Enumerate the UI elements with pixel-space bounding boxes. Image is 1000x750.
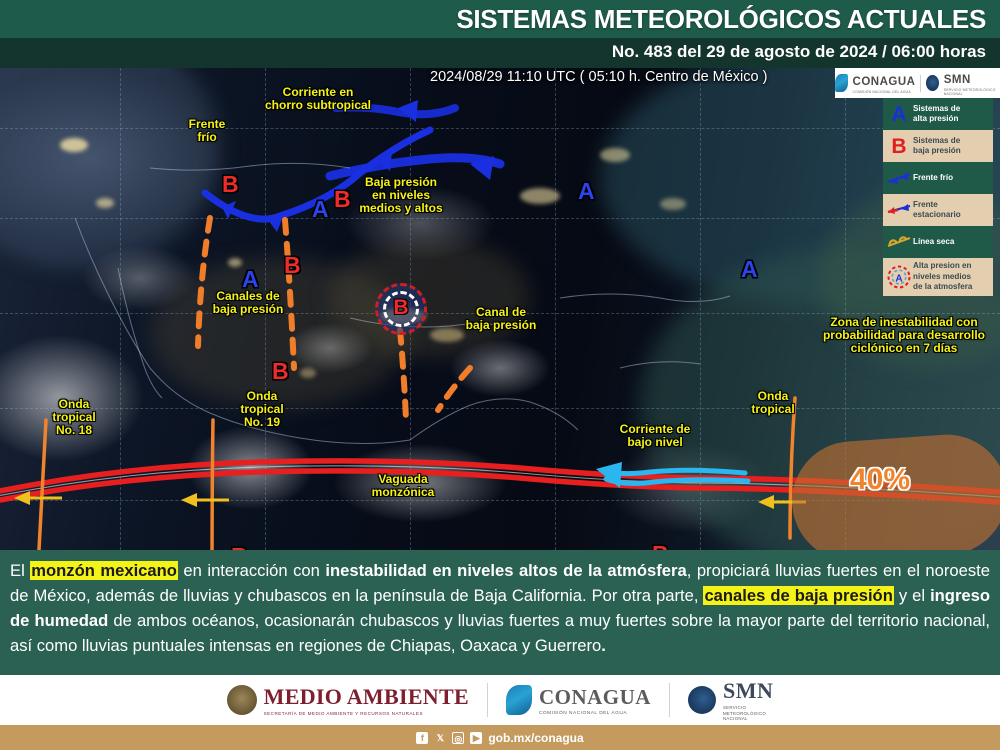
logo-divider [920,75,921,92]
label-cyclone-zone: Zona de inestabilidad con probabilidad p… [808,316,1000,355]
smn-spiral-icon [926,75,939,91]
legend-label: Sistemas de baja presión [913,136,961,157]
low-pressure-marker: B [652,543,669,550]
brand-subtitle: COMISIÓN NACIONAL DEL AGUA [539,711,651,716]
facebook-icon[interactable]: f [416,732,428,744]
stationary-front-icon [885,197,913,223]
footer-logos: MEDIO AMBIENTE SECRETARÍA DE MEDIO AMBIE… [0,675,1000,725]
satellite-map[interactable]: B 40% B A B A B B A A B B Corriente en c… [0,68,1000,550]
brand-subtitle: SERVICIO METEOROLÓGICO NACIONAL [723,705,773,721]
forecast-summary: El monzón mexicano en interacción con in… [0,550,1000,675]
legend-label: Frente estacionario [913,200,961,221]
legend-item-dry-line: Línea seca [883,226,993,258]
summary-plain: El [10,561,30,580]
legend-item-upper-level-high: A Alta presion en niveles medios de la a… [883,258,993,296]
brand-name: SMN [723,678,773,703]
legend-item-stationary-front: Frente estacionario [883,194,993,226]
letter-A-blue-icon: A [885,101,913,127]
brand-conagua: CONAGUA COMISIÓN NACIONAL DEL AGUA [506,685,651,716]
conagua-logo-text: CONAGUA COMISIÓN NACIONAL DEL AGUA [853,72,916,94]
label-monsoon-trough: Vaguada monzónica [355,473,451,499]
cyclone-probability-value: 40% [850,463,910,497]
legend-label: Frente frío [913,173,953,184]
legend-label: Alta presion en niveles medios de la atm… [913,261,972,293]
conagua-wave-icon [506,685,532,715]
smn-logo-text: SMN SERVICIO METEOROLÓGICO NACIONAL [944,70,1000,96]
brand-medio-ambiente: MEDIO AMBIENTE SECRETARÍA DE MEDIO AMBIE… [227,684,469,716]
summary-plain: de ambos océanos, ocasionarán chubascos … [10,611,990,655]
summary-text: El monzón mexicano en interacción con in… [10,561,990,655]
high-pressure-marker: A [741,258,758,281]
label-cold-front: Frente frío [172,118,242,144]
instagram-icon[interactable]: ◎ [452,732,464,744]
summary-highlight: canales de baja presión [703,586,893,605]
map-timestamp: 2024/08/29 11:10 UTC ( 05:10 h. Centro d… [430,69,767,85]
cold-front-icon [885,165,913,191]
footer-social-bar: f 𝕏 ◎ ▶ gob.mx/conagua [0,725,1000,750]
label-low-pressure-channels: Canales de baja presión [192,290,304,316]
conagua-wave-icon [835,74,848,92]
summary-highlight: monzón mexicano [30,561,178,580]
label-upper-low: Baja presión en niveles medios y altos [345,176,457,215]
footer-divider [487,683,488,717]
legend-item-low-pressure: B Sistemas de baja presión [883,130,993,162]
summary-bold: . [601,636,606,655]
dry-line-icon [885,229,913,255]
map-legend: A Sistemas de alta presión B Sistemas de… [883,98,993,296]
legend-item-cold-front: Frente frío [883,162,993,194]
upper-level-low-symbol: B [375,283,427,335]
label-tropical-wave-right: Onda tropical [735,390,811,416]
svg-text:A: A [895,273,902,284]
website-url[interactable]: gob.mx/conagua [488,731,583,745]
legend-item-high-pressure: A Sistemas de alta presión [883,98,993,130]
brand-name: MEDIO AMBIENTE [264,684,469,709]
legend-label: Línea seca [913,237,954,248]
label-tropical-wave-19: Onda tropical No. 19 [224,390,300,429]
x-icon[interactable]: 𝕏 [434,732,446,744]
brand-smn: SMN SERVICIO METEOROLÓGICO NACIONAL [688,678,773,721]
brand-name: CONAGUA [539,685,651,709]
label-low-pressure-channel: Canal de baja presión [450,306,552,332]
high-pressure-marker: A [242,268,259,291]
high-pressure-marker: A [578,180,595,203]
summary-plain: y el [894,586,930,605]
label-jet-stream: Corriente en chorro subtropical [228,86,408,112]
high-pressure-marker: A [312,198,329,221]
low-pressure-marker: B [222,173,239,196]
letter-B-red-icon: B [885,133,913,159]
smn-spiral-icon [688,686,716,714]
low-pressure-marker: B [284,254,301,277]
upper-low-letter: B [375,296,427,320]
map-logo-strip: CONAGUA COMISIÓN NACIONAL DEL AGUA SMN S… [835,68,1000,98]
low-pressure-marker: B [272,360,289,383]
youtube-icon[interactable]: ▶ [470,732,482,744]
upper-level-high-icon: A [885,264,913,290]
brand-subtitle: SECRETARÍA DE MEDIO AMBIENTE Y RECURSOS … [264,711,469,716]
footer-divider [669,683,670,717]
legend-label: Sistemas de alta presión [913,104,960,125]
summary-bold: inestabilidad en niveles altos de la atm… [325,561,686,580]
label-low-level-jet: Corriente de bajo nivel [600,423,710,449]
bulletin-number: No. 483 del 29 de agosto de 2024 / 06:00… [612,42,986,62]
mexico-eagle-icon [227,685,257,715]
label-tropical-wave-18: Onda tropical No. 18 [36,398,112,437]
page-title: SISTEMAS METEOROLÓGICOS ACTUALES [456,4,986,35]
summary-plain: en interacción con [178,561,325,580]
